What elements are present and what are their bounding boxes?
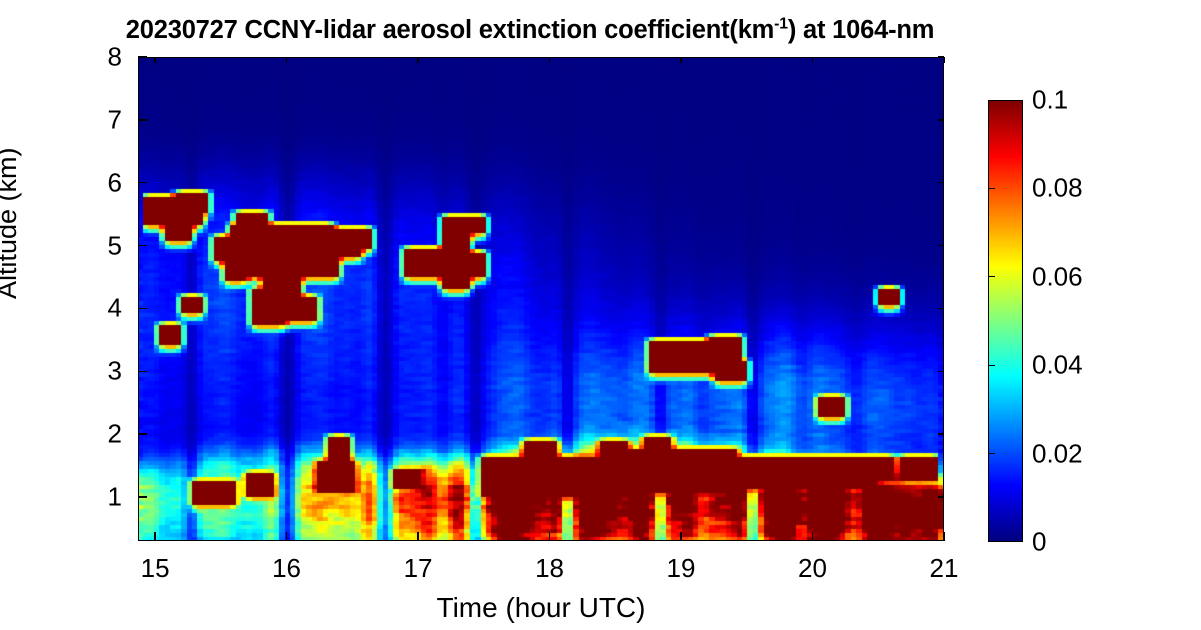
y-axis-tick-label: 1 — [0, 482, 122, 513]
x-axis-tick-label: 20 — [798, 553, 827, 584]
x-axis-tick-label: 15 — [141, 553, 170, 584]
x-axis-tick-label: 18 — [535, 553, 564, 584]
y-axis-tick — [138, 371, 147, 372]
x-axis-tick-top — [417, 57, 418, 63]
y-axis-tick-label: 8 — [0, 42, 122, 73]
x-axis-tick-label: 17 — [404, 553, 433, 584]
colorbar-tick-label: 0 — [1032, 527, 1046, 558]
heatmap-image — [138, 57, 944, 541]
colorbar-tick-label: 0.06 — [1032, 261, 1083, 292]
y-axis-tick — [138, 119, 147, 120]
x-axis-tick-label: 21 — [930, 553, 959, 584]
y-axis-tick-right — [938, 182, 944, 183]
colorbar-gradient — [988, 100, 1023, 542]
x-axis-tick-label: 16 — [272, 553, 301, 584]
title-superscript: -1 — [774, 16, 788, 33]
y-axis-tick-label: 2 — [0, 419, 122, 450]
x-axis-tick — [680, 532, 681, 541]
y-axis-tick — [138, 245, 147, 246]
figure-canvas: 20230727 CCNY-lidar aerosol extinction c… — [0, 0, 1201, 630]
plot-axes — [138, 57, 944, 541]
colorbar-tick-label: 0.1 — [1032, 85, 1068, 116]
colorbar-tick — [988, 453, 995, 454]
colorbar-tick-label: 0.02 — [1032, 438, 1083, 469]
colorbar-tick — [988, 365, 995, 366]
y-axis-tick-right — [938, 245, 944, 246]
x-axis-tick — [943, 532, 944, 541]
x-axis-tick-top — [680, 57, 681, 63]
title-suffix: ) at 1064-nm — [788, 16, 934, 44]
x-axis-tick-top — [943, 57, 944, 63]
x-axis-tick-top — [812, 57, 813, 63]
y-axis-tick-right — [938, 308, 944, 309]
colorbar-tick — [988, 188, 995, 189]
x-axis-tick — [154, 532, 155, 541]
x-axis-tick-top — [154, 57, 155, 63]
x-axis-tick-top — [286, 57, 287, 63]
colorbar — [988, 100, 1023, 542]
x-axis-tick — [812, 532, 813, 541]
y-axis-tick — [138, 56, 147, 57]
y-axis-tick — [138, 433, 147, 434]
colorbar-tick — [988, 276, 995, 277]
x-axis-tick-label: 19 — [667, 553, 696, 584]
y-axis-tick — [138, 182, 147, 183]
y-axis-tick-right — [938, 119, 944, 120]
title-prefix: 20230727 CCNY-lidar aerosol extinction c… — [126, 16, 774, 44]
x-axis-tick — [549, 532, 550, 541]
y-axis-tick-right — [938, 433, 944, 434]
x-axis-tick — [417, 532, 418, 541]
colorbar-tick-label: 0.04 — [1032, 350, 1083, 381]
y-axis-tick-label: 7 — [0, 104, 122, 135]
colorbar-tick-label: 0.08 — [1032, 173, 1083, 204]
page-title: 20230727 CCNY-lidar aerosol extinction c… — [0, 16, 1060, 45]
x-axis-label: Time (hour UTC) — [138, 592, 944, 624]
x-axis-tick-top — [549, 57, 550, 63]
y-axis-tick — [138, 496, 147, 497]
y-axis-label: Altitude (km) — [0, 147, 23, 299]
y-axis-tick-right — [938, 496, 944, 497]
y-axis-tick-right — [938, 371, 944, 372]
y-axis-tick — [138, 308, 147, 309]
y-axis-tick-label: 3 — [0, 356, 122, 387]
x-axis-tick — [286, 532, 287, 541]
